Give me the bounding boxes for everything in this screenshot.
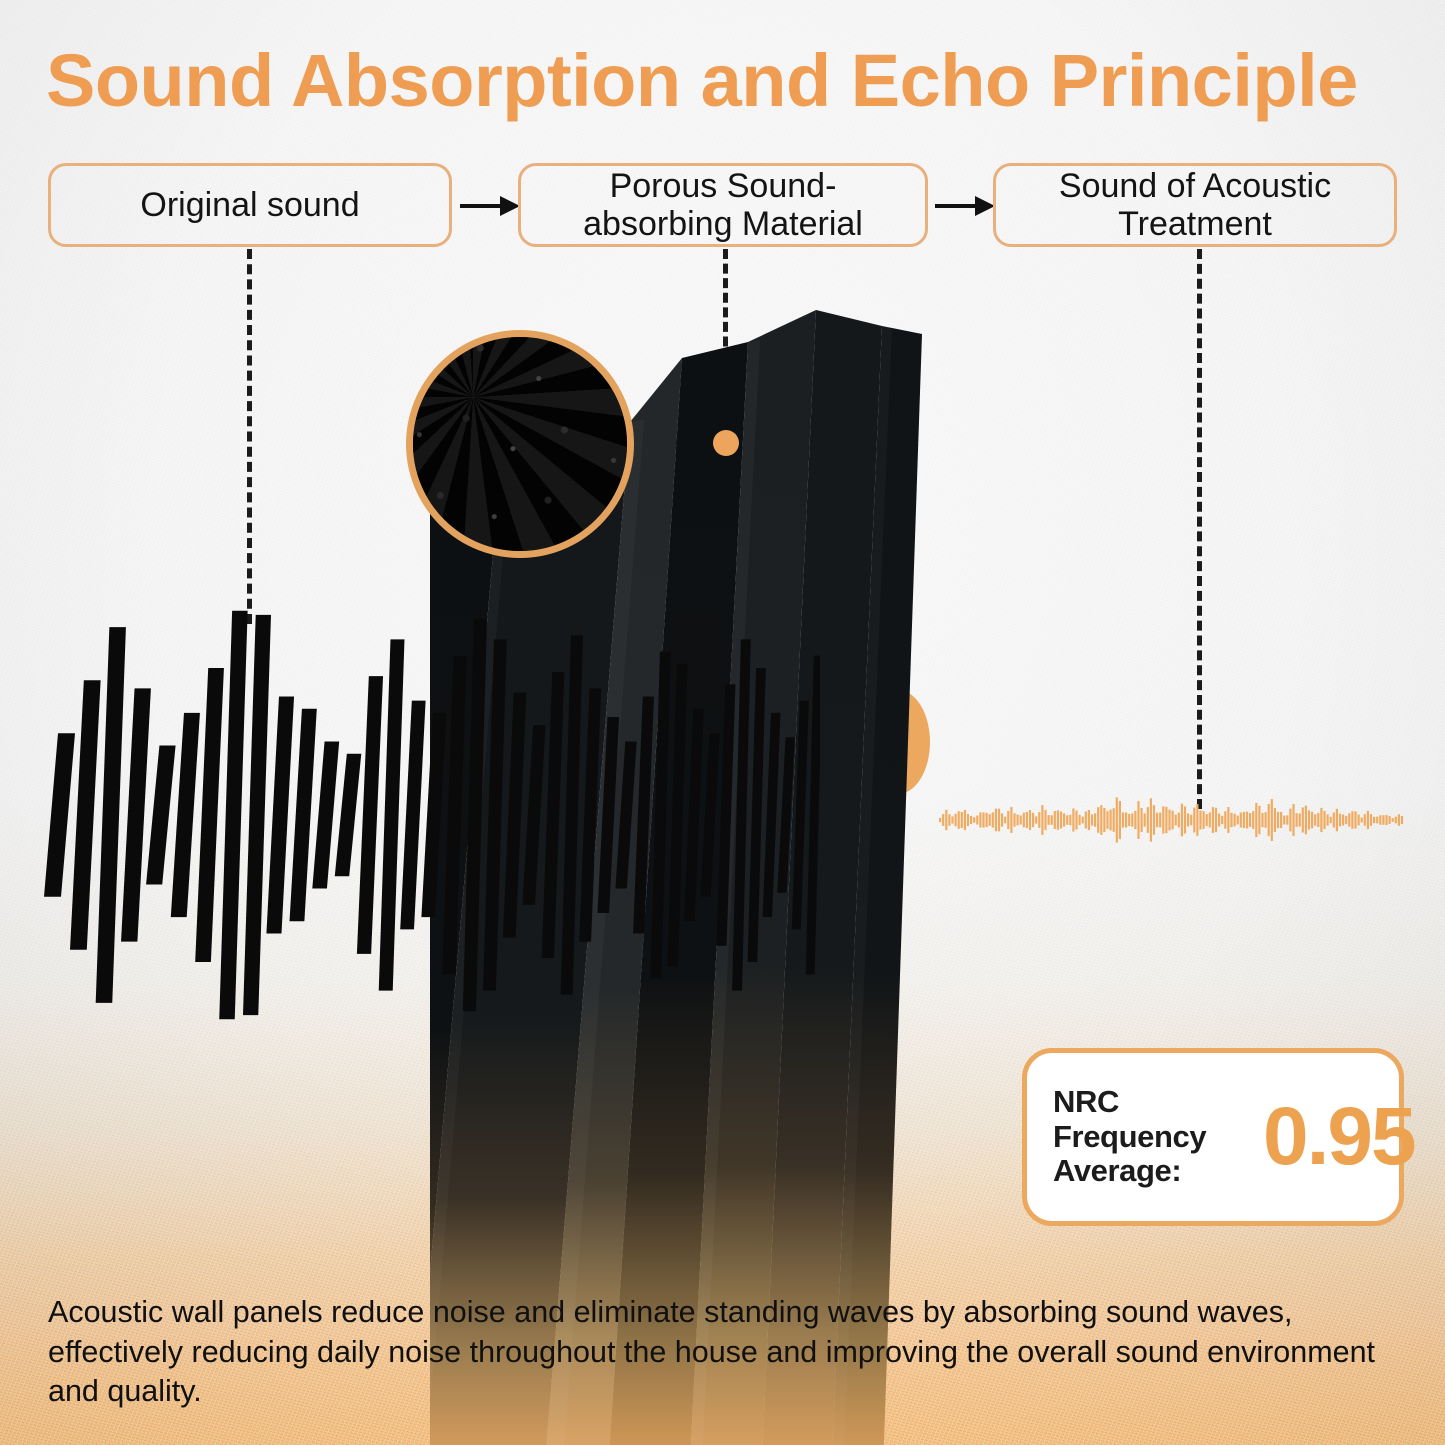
nrc-value: 0.95 xyxy=(1263,1096,1415,1178)
flow-box-label-line2: absorbing Material xyxy=(583,205,863,243)
arrow-right-icon xyxy=(460,196,522,216)
connector-dashed-line-treatment xyxy=(1197,249,1202,809)
arrow-right-icon xyxy=(935,196,997,216)
attenuated-sound-waveform xyxy=(935,790,1405,850)
flow-box-label-line2: Treatment xyxy=(1059,205,1331,243)
flow-box-acoustic-treatment: Sound of Acoustic Treatment xyxy=(993,163,1397,247)
arrow-shaft xyxy=(460,204,504,208)
caption-paragraph: Acoustic wall panels reduce noise and el… xyxy=(48,1293,1400,1412)
infographic-canvas: Sound Absorption and Echo Principle Orig… xyxy=(0,0,1445,1445)
flow-box-label: Original sound xyxy=(140,186,359,224)
flow-box-label-line1: Sound of Acoustic xyxy=(1059,167,1331,205)
page-title: Sound Absorption and Echo Principle xyxy=(46,44,1406,118)
panel-marker-dot xyxy=(713,430,739,456)
flow-box-text: Porous Sound- absorbing Material xyxy=(583,167,863,243)
connector-dashed-line-original-sound xyxy=(247,249,252,624)
felt-texture-closeup xyxy=(406,330,634,558)
nrc-label-line1: NRC Frequency xyxy=(1053,1085,1253,1154)
caption-line-1: Acoustic wall panels reduce noise and el… xyxy=(48,1293,1400,1333)
original-sound-waveform xyxy=(40,600,820,1030)
flow-box-label-line1: Porous Sound- xyxy=(583,167,863,205)
caption-line-3: and quality. xyxy=(48,1372,1400,1412)
nrc-badge: NRC Frequency Average: 0.95 xyxy=(1022,1048,1404,1226)
arrow-head xyxy=(500,196,520,216)
arrow-head xyxy=(975,196,995,216)
arrow-shaft xyxy=(935,204,979,208)
flow-box-text: Sound of Acoustic Treatment xyxy=(1059,167,1331,243)
flow-box-original-sound: Original sound xyxy=(48,163,452,247)
felt-fiber-texture xyxy=(406,330,634,558)
caption-line-2: effectively reducing daily noise through… xyxy=(48,1333,1400,1373)
nrc-label: NRC Frequency Average: xyxy=(1053,1085,1253,1189)
nrc-label-line2: Average: xyxy=(1053,1154,1253,1189)
flow-box-porous-material: Porous Sound- absorbing Material xyxy=(518,163,928,247)
